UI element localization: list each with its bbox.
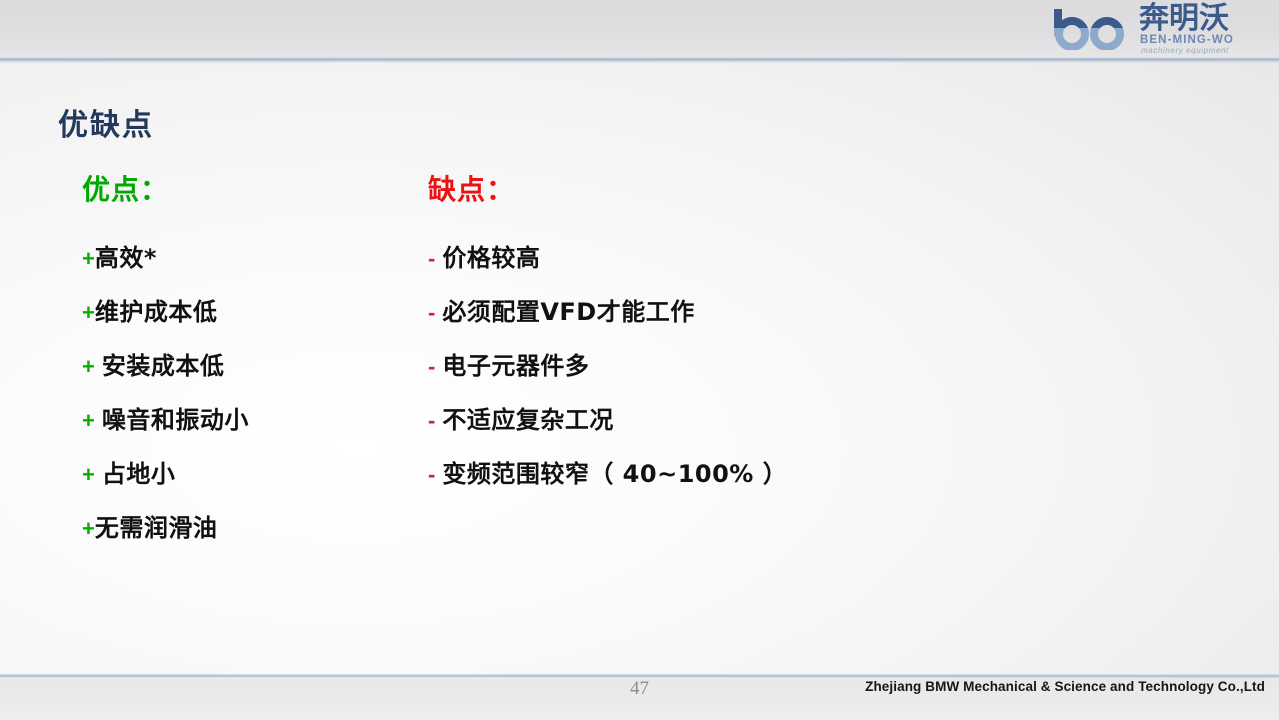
list-item-label: 安装成本低 [102, 354, 225, 378]
list-item: - 必须配置VFD才能工作 [428, 300, 988, 324]
plus-marker-icon: + [82, 410, 95, 432]
list-item-label: 价格较高 [442, 246, 540, 270]
list-item: - 电子元器件多 [428, 354, 988, 378]
logo-chinese-name: 奔明沃 [1139, 4, 1229, 34]
list-item: + 噪音和振动小 [82, 408, 412, 432]
plus-marker-icon: + [82, 356, 95, 378]
cons-list: - 价格较高 - 必须配置VFD才能工作 - 电子元器件多 - 不适应复杂工况 … [428, 246, 988, 486]
company-logo: 奔明沃 BEN-MING-WO machinery equipment [1049, 2, 1271, 54]
plus-marker-icon: + [82, 302, 95, 324]
slide-canvas: 奔明沃 BEN-MING-WO machinery equipment 优缺点 … [0, 0, 1279, 720]
plus-marker-icon: + [82, 248, 95, 270]
list-item-label: 必须配置VFD才能工作 [442, 300, 694, 324]
list-item-label: 高效* [95, 246, 157, 270]
plus-marker-icon: + [82, 518, 95, 540]
list-item: + 维护成本低 [82, 300, 412, 324]
pros-list: + 高效* + 维护成本低 + 安装成本低 + 噪音和振动小 + 占地小 + 无… [82, 246, 412, 540]
minus-marker-icon: - [428, 410, 435, 432]
list-item: + 无需润滑油 [82, 516, 412, 540]
minus-marker-icon: - [428, 248, 435, 270]
list-item-label: 无需润滑油 [95, 516, 218, 540]
list-item-label: 噪音和振动小 [102, 408, 249, 432]
list-item-label: 电子元器件多 [442, 354, 589, 378]
plus-marker-icon: + [82, 464, 95, 486]
list-item: - 不适应复杂工况 [428, 408, 988, 432]
header-divider-shadow [0, 61, 1279, 63]
list-item-label: 不适应复杂工况 [442, 408, 614, 432]
cons-column: 缺点： - 价格较高 - 必须配置VFD才能工作 - 电子元器件多 - 不适应复… [428, 168, 988, 486]
footer-company-name: Zhejiang BMW Mechanical & Science and Te… [865, 679, 1265, 694]
list-item-label: 占地小 [102, 462, 176, 486]
cons-heading: 缺点： [428, 168, 988, 208]
pros-column: 优点： + 高效* + 维护成本低 + 安装成本低 + 噪音和振动小 + 占地小 [82, 168, 412, 540]
list-item: + 高效* [82, 246, 412, 270]
minus-marker-icon: - [428, 356, 435, 378]
minus-marker-icon: - [428, 464, 435, 486]
list-item-label: 维护成本低 [95, 300, 218, 324]
logo-tagline: machinery equipment [1141, 46, 1229, 55]
list-item: - 变频范围较窄（ 40~100% ） [428, 462, 988, 486]
list-item-label: 变频范围较窄（ 40~100% ） [442, 462, 787, 486]
minus-marker-icon: - [428, 302, 435, 324]
list-item: + 占地小 [82, 462, 412, 486]
logo-wordmark: 奔明沃 BEN-MING-WO machinery equipment [1139, 5, 1267, 51]
bo-monogram-icon [1049, 6, 1135, 50]
pros-heading: 优点： [82, 168, 412, 208]
list-item: - 价格较高 [428, 246, 988, 270]
list-item: + 安装成本低 [82, 354, 412, 378]
logo-english-name: BEN-MING-WO [1140, 34, 1234, 46]
page-title: 优缺点 [58, 100, 154, 144]
